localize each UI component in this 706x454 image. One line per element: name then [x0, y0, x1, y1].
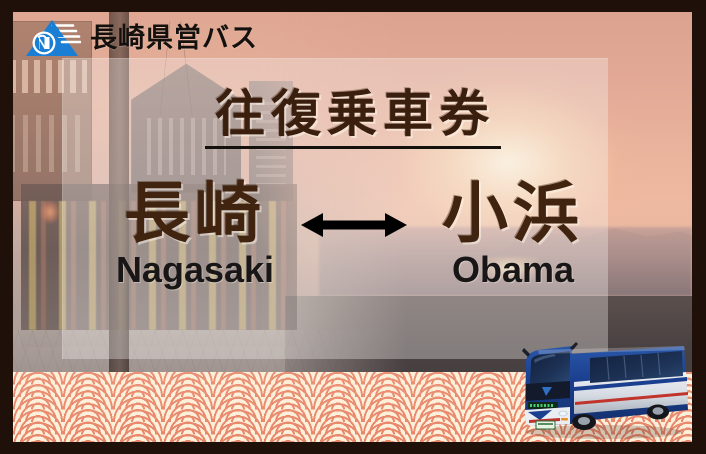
ticket-title-wrap: 往復乗車券	[0, 88, 706, 149]
destination-station: 小浜 Obama	[415, 180, 611, 288]
nagasaki-kenei-bus-logo-icon	[23, 18, 81, 58]
highway-coach-bus-photo	[512, 332, 690, 440]
origin-station-kanji: 長崎	[97, 180, 293, 246]
destination-station-romaji: Obama	[415, 252, 611, 288]
origin-station: 長崎 Nagasaki	[97, 180, 293, 288]
brand-header: 長崎県営バス	[23, 18, 258, 58]
ticket-banner: 長崎県営バス 往復乗車券 長崎 Nagasaki 小浜 Obama	[0, 0, 706, 454]
destination-station-kanji: 小浜	[415, 180, 611, 246]
ticket-type-title: 往復乗車券	[205, 88, 501, 149]
double-headed-arrow-icon	[293, 208, 415, 242]
route-row: 長崎 Nagasaki 小浜 Obama	[58, 180, 650, 288]
origin-station-romaji: Nagasaki	[97, 252, 293, 288]
company-name: 長崎県営バス	[90, 25, 258, 52]
